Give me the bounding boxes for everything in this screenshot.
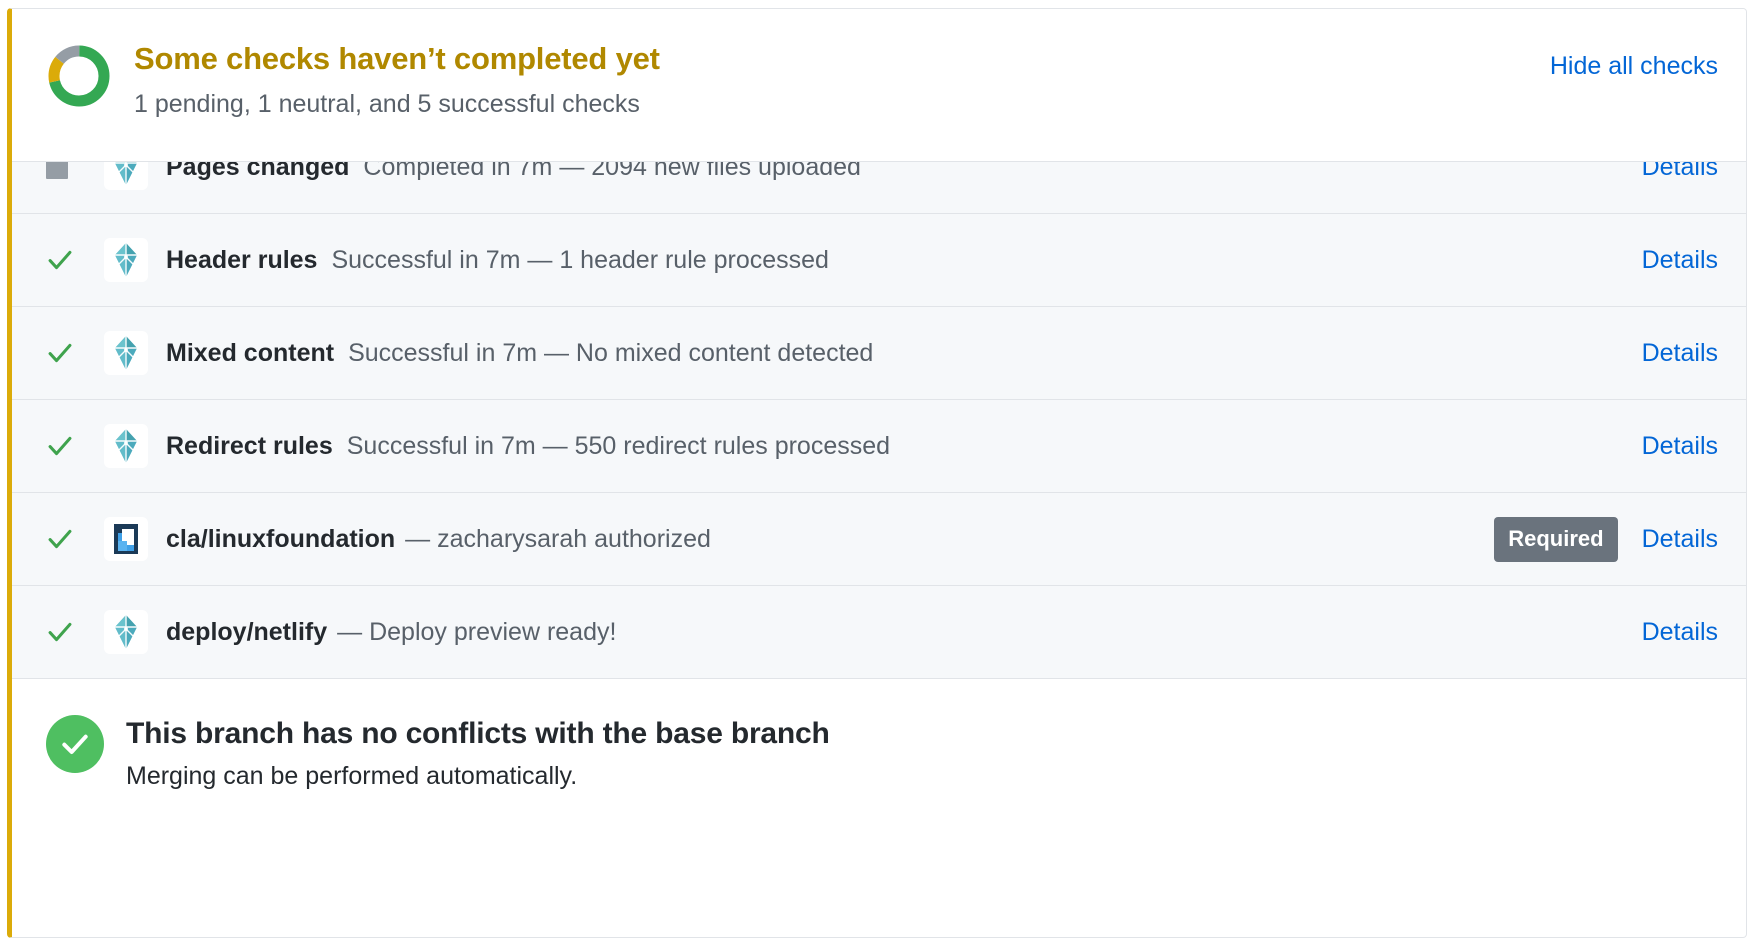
table-row[interactable]: deploy/netlify — Deploy preview ready! D…: [12, 586, 1746, 679]
checks-status-text: Some checks haven’t completed yet 1 pend…: [134, 37, 1712, 122]
table-row[interactable]: Mixed content Successful in 7m — No mixe…: [12, 307, 1746, 400]
status-icon-cell: [46, 339, 80, 367]
check-description: Successful in 7m — 550 redirect rules pr…: [347, 432, 890, 461]
netlify-logo-icon: [104, 162, 148, 190]
status-icon-cell: [46, 618, 80, 646]
check-icon: [46, 246, 74, 274]
table-row[interactable]: Redirect rules Successful in 7m — 550 re…: [12, 400, 1746, 493]
netlify-gem-svg: [106, 240, 146, 280]
neutral-square-icon: [46, 162, 68, 179]
check-icon: [46, 618, 74, 646]
netlify-logo-icon: [104, 331, 148, 375]
status-icon-cell: [46, 246, 80, 274]
check-description: — Deploy preview ready!: [337, 618, 616, 647]
check-description: Successful in 7m — No mixed content dete…: [348, 339, 873, 368]
checks-list: Pages changed Completed in 7m — 2094 new…: [12, 161, 1746, 679]
check-icon: [46, 339, 74, 367]
linuxfoundation-cla-icon: [104, 517, 148, 561]
check-icon: [46, 525, 74, 553]
check-description: Completed in 7m — 2094 new files uploade…: [363, 162, 861, 182]
check-name: Mixed content: [166, 339, 334, 368]
netlify-gem-svg: [106, 612, 146, 652]
merge-status-title: This branch has no conflicts with the ba…: [126, 715, 830, 753]
merge-status-section: This branch has no conflicts with the ba…: [12, 679, 1746, 823]
status-badge: Required: [1494, 517, 1617, 562]
check-circle-icon: [46, 715, 104, 773]
table-row[interactable]: Pages changed Completed in 7m — 2094 new…: [12, 162, 1746, 214]
merge-status-text: This branch has no conflicts with the ba…: [126, 713, 830, 793]
check-name: Header rules: [166, 246, 317, 275]
check-description: — zacharysarah authorized: [405, 525, 711, 554]
netlify-logo-icon: [104, 238, 148, 282]
netlify-gem-svg: [106, 333, 146, 373]
details-link[interactable]: Details: [1642, 162, 1718, 182]
check-name: Redirect rules: [166, 432, 333, 461]
details-link[interactable]: Details: [1642, 432, 1718, 461]
netlify-gem-svg: [106, 162, 146, 188]
checks-status-header: Some checks haven’t completed yet 1 pend…: [12, 9, 1746, 161]
check-name: cla/linuxfoundation: [166, 525, 395, 554]
details-link[interactable]: Details: [1642, 246, 1718, 275]
table-row[interactable]: cla/linuxfoundation — zacharysarah autho…: [12, 493, 1746, 586]
details-link[interactable]: Details: [1642, 339, 1718, 368]
netlify-logo-icon: [104, 610, 148, 654]
checks-status-subtitle: 1 pending, 1 neutral, and 5 successful c…: [134, 86, 1712, 122]
netlify-logo-icon: [104, 424, 148, 468]
merge-box: Some checks haven’t completed yet 1 pend…: [7, 8, 1747, 938]
check-name: deploy/netlify: [166, 618, 327, 647]
donut-svg: [46, 43, 112, 109]
pull-request-merge-panel: Some checks haven’t completed yet 1 pend…: [0, 0, 1754, 946]
status-icon-cell: [46, 525, 80, 553]
check-icon: [46, 432, 74, 460]
status-icon-cell: [46, 162, 80, 179]
status-icon-cell: [46, 432, 80, 460]
table-row[interactable]: Header rules Successful in 7m — 1 header…: [12, 214, 1746, 307]
checks-donut-chart: [46, 43, 112, 109]
netlify-gem-svg: [106, 426, 146, 466]
linuxfoundation-cla-svg: [106, 519, 146, 559]
hide-all-checks-link[interactable]: Hide all checks: [1550, 51, 1718, 81]
merge-status-subtitle: Merging can be performed automatically.: [126, 759, 830, 793]
check-circle-svg: [59, 728, 91, 760]
details-link[interactable]: Details: [1642, 525, 1718, 554]
details-link[interactable]: Details: [1642, 618, 1718, 647]
checks-status-title: Some checks haven’t completed yet: [134, 39, 1712, 79]
check-description: Successful in 7m — 1 header rule process…: [331, 246, 828, 275]
check-name: Pages changed: [166, 162, 349, 182]
